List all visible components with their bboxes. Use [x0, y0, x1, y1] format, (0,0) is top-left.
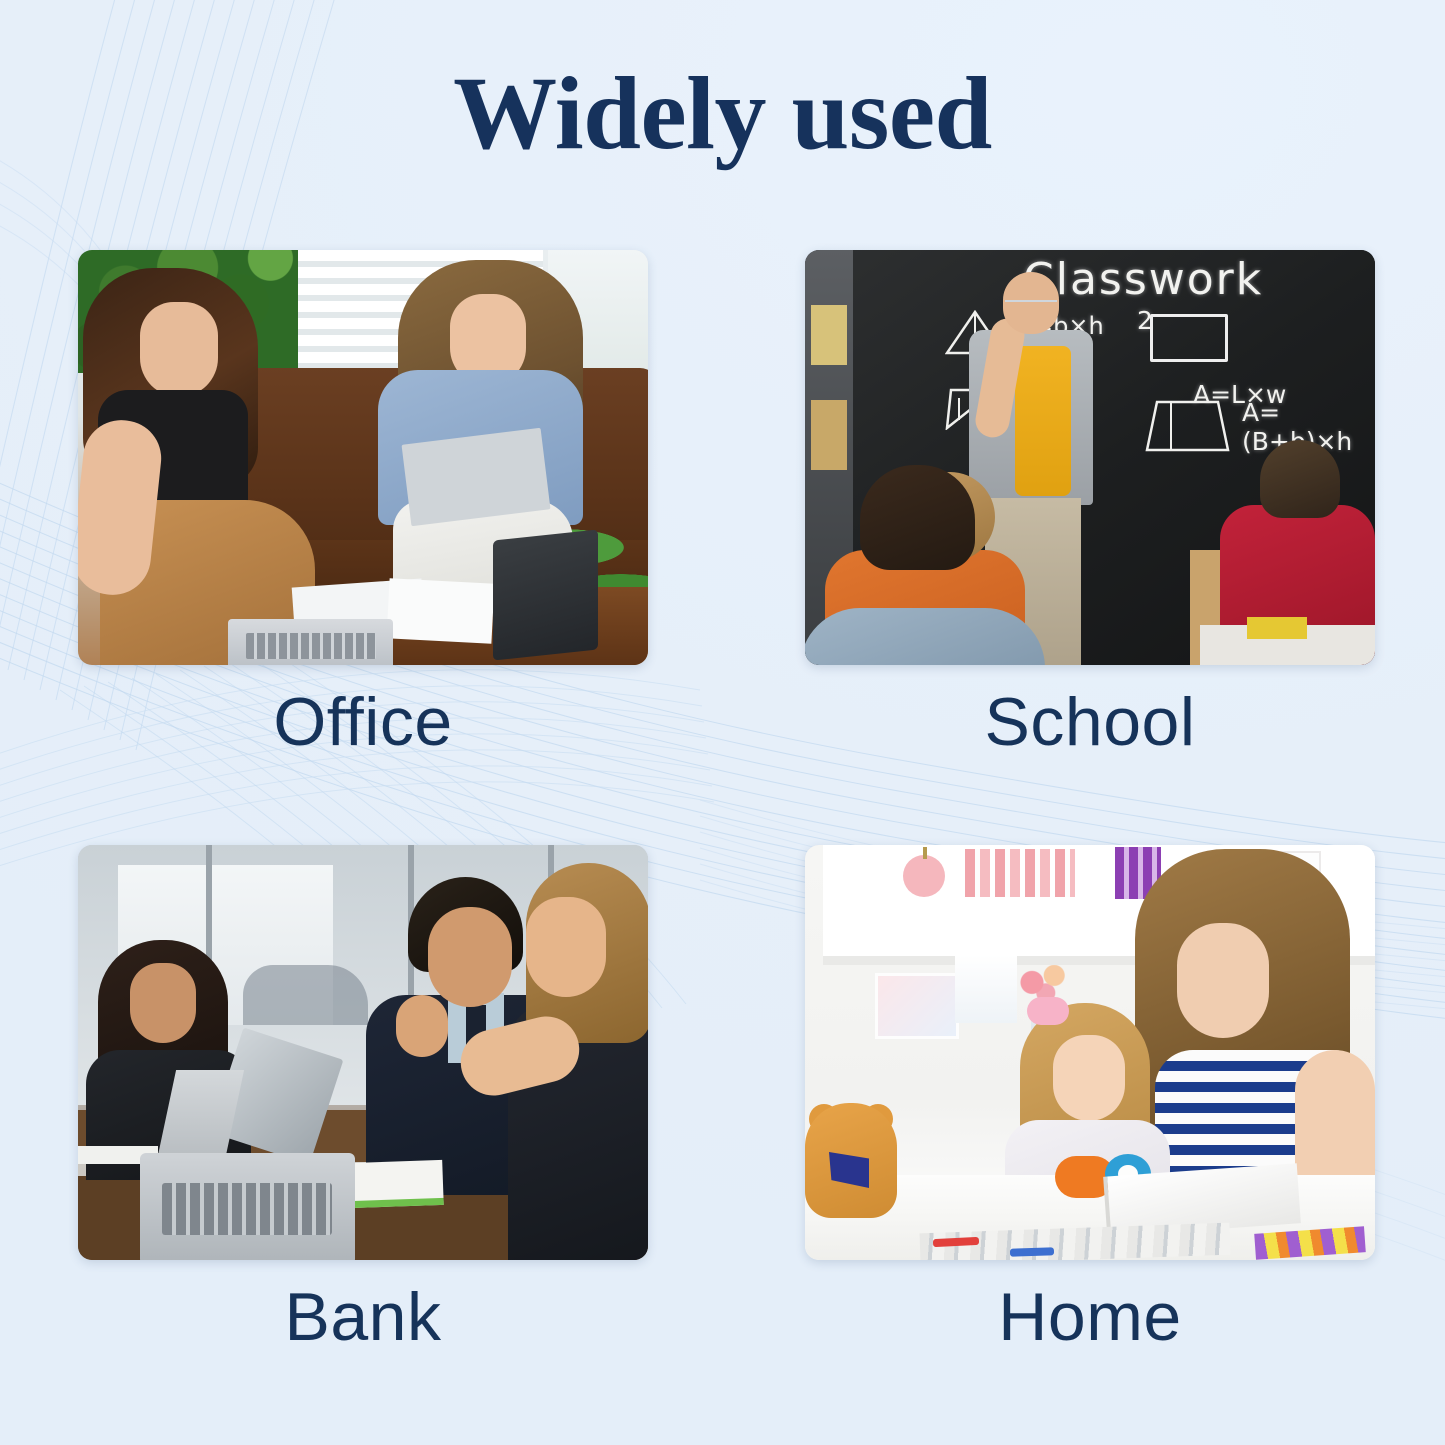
office-woman-left-face [140, 302, 218, 397]
chalkboard-rectangle-icon [1150, 314, 1228, 362]
home-girl-face [1053, 1035, 1125, 1121]
bank-woman-left-face [130, 963, 196, 1043]
office-laptop-left [228, 619, 393, 665]
home-apple-decor-icon [903, 855, 945, 897]
home-pencil-blue [1010, 1247, 1054, 1257]
home-label: Home [805, 1282, 1375, 1353]
office-laptop-right [493, 529, 598, 660]
school-label: School [805, 687, 1375, 758]
school-book [1247, 617, 1307, 639]
office-scene [78, 250, 648, 665]
home-window [955, 955, 1017, 1023]
bank-woman-right-face [526, 897, 606, 997]
grid-row-top: Office Classwork =b×h 2 A=L×w A=(B+b)×h [0, 250, 1445, 845]
bank-label: Bank [78, 1282, 648, 1353]
office-photo[interactable] [78, 250, 648, 665]
school-teacher-glasses-icon [1005, 300, 1057, 310]
bank-background-silhouette [243, 965, 368, 1025]
school-student-3-head [1260, 440, 1340, 518]
scenario-card-bank[interactable]: Bank [78, 845, 648, 1353]
infographic-canvas: Widely used [0, 0, 1445, 1445]
scenario-card-school[interactable]: Classwork =b×h 2 A=L×w A=(B+b)×h [805, 250, 1375, 758]
office-paper-2 [387, 578, 495, 643]
bank-scene [78, 845, 648, 1260]
page-title: Widely used [0, 62, 1445, 166]
home-photo[interactable] [805, 845, 1375, 1260]
bank-man-face [428, 907, 512, 1007]
bank-laptop [140, 1153, 355, 1260]
bank-man-hand [396, 995, 448, 1057]
school-student-4-shoulders [805, 608, 1045, 665]
school-photo[interactable]: Classwork =b×h 2 A=L×w A=(B+b)×h [805, 250, 1375, 665]
home-mother-face [1177, 923, 1269, 1038]
school-teacher-shirt [1015, 346, 1071, 496]
office-label: Office [78, 687, 648, 758]
grid-row-bottom: Bank [0, 845, 1445, 1440]
chalkboard-heading: Classwork [1023, 254, 1263, 305]
school-scene: Classwork =b×h 2 A=L×w A=(B+b)×h [805, 250, 1375, 665]
office-document-sheet [402, 428, 551, 526]
home-picture-frame [875, 973, 959, 1039]
bank-photo[interactable] [78, 845, 648, 1260]
scenario-card-home[interactable]: Home [805, 845, 1375, 1353]
scenario-card-office[interactable]: Office [78, 250, 648, 758]
home-books-row [965, 849, 1075, 897]
home-scene [805, 845, 1375, 1260]
chalkboard-trapezoid-icon [1145, 400, 1230, 452]
home-girl-hair-bow-icon [1027, 997, 1069, 1025]
usage-scenario-grid: Office Classwork =b×h 2 A=L×w A=(B+b)×h [0, 250, 1445, 1440]
school-student-1-head [860, 465, 975, 570]
